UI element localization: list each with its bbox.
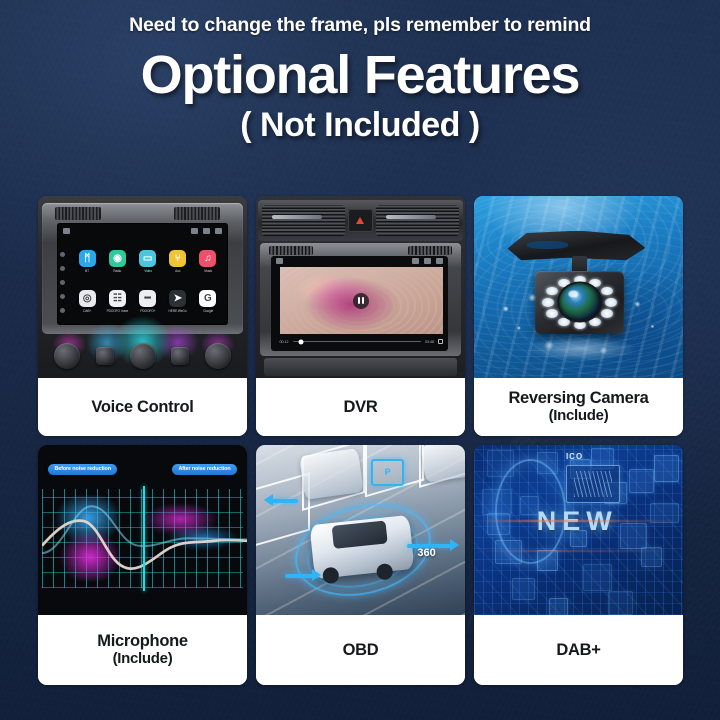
app-label: PDOOFO Voice [107,309,129,313]
feature-card-obd[interactable]: P 360 OBD [256,445,465,685]
reversing-camera-media [474,196,683,378]
360-degree-label: 360 [417,547,435,559]
card-title: DAB+ [556,641,600,659]
parked-car-2 [421,445,465,483]
app-bt[interactable]: ᛗBT [72,242,102,282]
app-label: Radio [113,269,121,273]
arrow-left-head [312,569,321,581]
pause-icon[interactable] [353,293,369,309]
video-icon[interactable]: ▭ [139,250,156,267]
card-subtitle: (Include) [113,651,173,668]
dvr-status-bar [271,256,449,266]
monitor-graphic [566,465,620,502]
dashboard-vent-bar [258,200,463,242]
tech-tile [620,523,647,549]
recent-apps-icon[interactable] [436,258,443,264]
feature-card-grid: ᛗBT◉Radio▭Video⑂Aux♫Music◎DAB+☷PDOOFO Vo… [38,196,683,685]
app-label: HERE WeGo [169,309,187,313]
recent-apps-icon[interactable] [215,228,222,234]
google-icon[interactable]: G [199,290,216,307]
parked-car-1 [299,448,363,500]
app-pdoofo-voice[interactable]: ☷PDOOFO Voice [102,281,132,321]
dvr-buttons-right[interactable] [408,246,452,255]
home-icon[interactable] [63,228,70,234]
feature-card-reversing-camera[interactable]: Reversing Camera (Include) [474,196,683,436]
radio-icon[interactable]: ◉ [109,250,126,267]
climate-knob-left[interactable] [54,343,80,369]
feature-card-dab-plus[interactable]: ICO N E W DAB+ [474,445,683,685]
arrow-up-bar [271,499,298,503]
app-label: Google [203,309,213,313]
dvr-screen[interactable]: 00:12 03:48 [271,256,449,351]
feature-card-microphone[interactable]: Before noise reduction After noise reduc… [38,445,247,685]
navigation-icon[interactable]: ➤ [169,290,186,307]
page-header: Need to change the frame, pls remember t… [0,0,720,178]
app-music[interactable]: ♫Music [193,242,223,282]
volume-icon[interactable] [60,266,65,271]
bluetooth-icon[interactable]: ᛗ [79,250,96,267]
app-label: PDOOFO+ [140,309,155,313]
feature-card-dvr[interactable]: 00:12 03:48 DVR [256,196,465,436]
card-label-dvr: DVR [256,378,465,436]
chip-before-noise-reduction: Before noise reduction [48,464,117,475]
water-splash [487,280,675,360]
card-label-voice-control: Voice Control [38,378,247,436]
video-progress-handle[interactable] [299,339,304,344]
video-time-total: 03:48 [425,340,434,344]
light-streak-1 [474,520,683,522]
feature-card-voice-control[interactable]: ᛗBT◉Radio▭Video⑂Aux♫Music◎DAB+☷PDOOFO Vo… [38,196,247,436]
video-time-current: 00:12 [280,340,289,344]
dvr-media: 00:12 03:48 [256,196,465,378]
back-icon[interactable] [424,258,431,264]
video-progress-track[interactable] [293,341,421,343]
menu-icon[interactable] [60,252,65,257]
tech-tile [629,469,654,493]
aux-icon[interactable]: ⑂ [169,250,186,267]
tech-tile [549,598,568,615]
app-label: BT [85,269,89,273]
dvr-buttons-left[interactable] [269,246,313,255]
voice-control-media: ᛗBT◉Radio▭Video⑂Aux♫Music◎DAB+☷PDOOFO Vo… [38,196,247,378]
dashboard-vent-right [174,207,220,220]
head-unit-screen[interactable]: ᛗBT◉Radio▭Video⑂Aux♫Music◎DAB+☷PDOOFO Vo… [57,223,228,325]
card-title: Microphone [97,632,188,650]
chip-after-noise-reduction: After noise reduction [172,464,236,475]
card-title: Reversing Camera [508,389,648,407]
arrow-right-head [450,539,459,551]
climate-knob-center[interactable] [130,343,156,369]
screen-side-dock [57,240,69,326]
app-radio[interactable]: ◉Radio [102,242,132,282]
video-seek-bar[interactable]: 00:12 03:48 [280,336,443,348]
wifi-icon [191,228,198,234]
subject-vehicle [310,515,415,580]
page-title: Optional Features [0,48,720,103]
climate-knob-right[interactable] [205,343,231,369]
hazard-light-button[interactable] [348,209,374,232]
page-subtitle: ( Not Included ) [0,106,720,145]
climate-button-right[interactable] [171,347,189,365]
arrow-up-head [264,494,273,506]
card-title: OBD [343,641,379,659]
dvr-button-row [269,246,453,255]
card-title: Voice Control [91,398,193,416]
dab-icon[interactable]: ◎ [79,290,96,307]
home-icon[interactable] [276,258,283,264]
hazard-triangle-icon [356,217,364,224]
card-label-reversing-camera: Reversing Camera (Include) [474,378,683,436]
app-label: DAB+ [83,309,91,313]
app-google[interactable]: GGoogle [193,281,223,321]
dvr-status-right-icons [412,258,443,264]
air-vent-right [376,205,459,235]
parking-sign: P [371,459,404,486]
voice-assist-icon[interactable]: ☷ [109,290,126,307]
card-subtitle: (Include) [549,408,609,425]
tech-tile [654,455,679,482]
microphone-media: Before noise reduction After noise reduc… [38,445,247,615]
app-pdoofo[interactable]: ━PDOOFO+ [133,281,163,321]
dvr-video-frame [280,267,443,333]
card-label-microphone: Microphone (Include) [38,615,247,685]
screen-status-bar [57,223,228,239]
card-label-obd: OBD [256,615,465,685]
waveform-outline [42,489,247,588]
card-title: DVR [344,398,378,416]
app-here-wego[interactable]: ➤HERE WeGo [163,281,193,321]
status-bar-right-icons [191,228,222,234]
pdoofo-plus-icon[interactable]: ━ [139,290,156,307]
card-label-dab-plus: DAB+ [474,615,683,685]
app-aux[interactable]: ⑂Aux [163,242,193,282]
tech-tile [583,564,612,591]
climate-button-center[interactable] [96,347,114,365]
music-icon[interactable]: ♫ [199,250,216,267]
app-video[interactable]: ▭Video [133,242,163,282]
dab-media: ICO N E W [474,445,683,615]
back-icon[interactable] [203,228,210,234]
air-vent-left [262,205,345,235]
tech-tile [608,591,633,615]
ico-label: ICO [566,452,583,461]
app-grid: ᛗBT◉Radio▭Video⑂Aux♫Music◎DAB+☷PDOOFO Vo… [72,242,223,322]
chart-playhead [143,486,145,591]
app-dab[interactable]: ◎DAB+ [72,281,102,321]
obd-media: P 360 [256,445,465,615]
tech-tile [512,578,535,600]
wifi-icon [412,258,419,264]
app-label: Video [144,269,152,273]
app-label: Music [204,269,212,273]
settings-icon[interactable] [60,294,65,299]
light-streak-2 [474,550,683,552]
app-label: Aux [175,269,180,273]
apps-icon[interactable] [60,308,65,313]
power-icon[interactable] [60,280,65,285]
dashboard-vent-left [55,207,101,220]
dvr-lower-trim [264,358,456,376]
dashboard-controls [46,336,238,376]
fullscreen-icon[interactable] [438,339,443,344]
header-kicker: Need to change the frame, pls remember t… [0,14,720,37]
